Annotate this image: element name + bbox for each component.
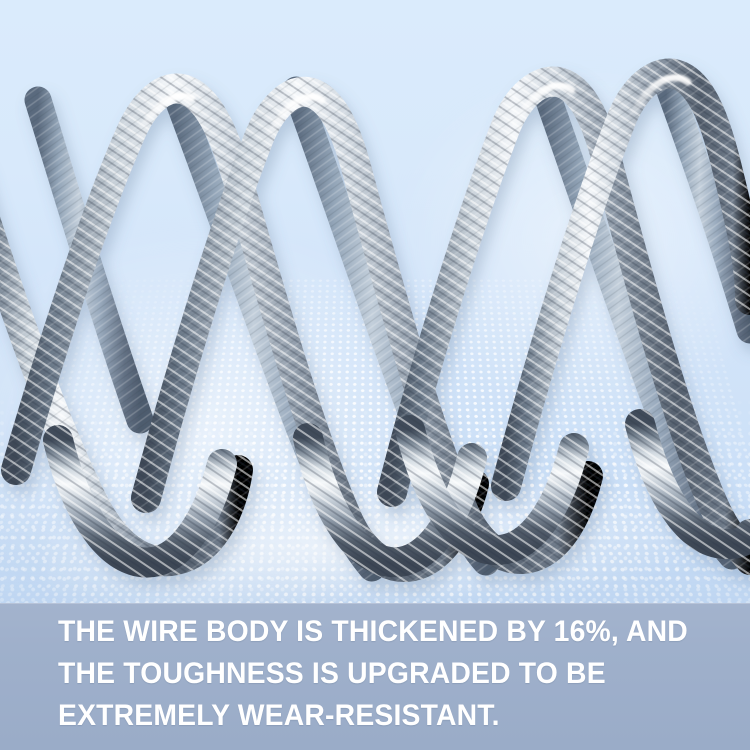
caption-line-3: EXTREMELY WEAR-RESISTANT. — [58, 695, 703, 737]
caption-line-1: THE WIRE BODY IS THICKENED BY 16%, AND — [58, 611, 703, 653]
product-feature-image: THE WIRE BODY IS THICKENED BY 16%, AND T… — [0, 0, 750, 750]
caption-text-block: THE WIRE BODY IS THICKENED BY 16%, AND T… — [58, 611, 730, 737]
caption-band: THE WIRE BODY IS THICKENED BY 16%, AND T… — [0, 603, 750, 750]
caption-line-2: THE TOUGHNESS IS UPGRADED TO BE — [58, 653, 703, 695]
